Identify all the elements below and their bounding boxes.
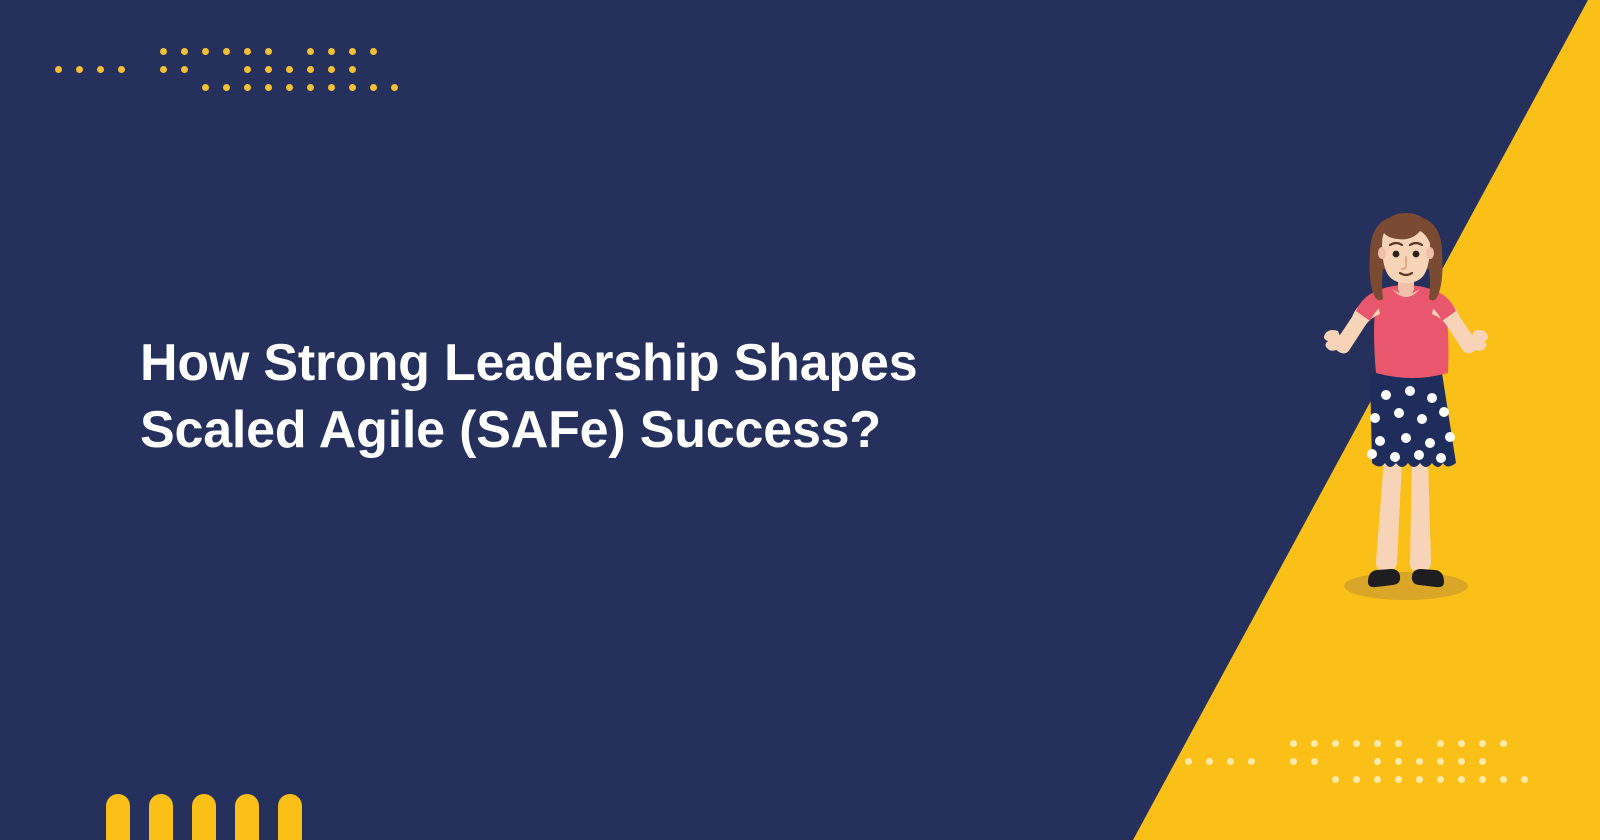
shoe-left (1368, 569, 1400, 587)
decorative-dot (1458, 776, 1465, 783)
decorative-dot (1416, 776, 1423, 783)
decorative-dot (265, 48, 272, 55)
decorative-accent-bars (106, 794, 302, 840)
decorative-dot (1332, 740, 1339, 747)
accent-bar (106, 794, 130, 840)
decorative-dot (1290, 740, 1297, 747)
decorative-dot (1374, 740, 1381, 747)
decorative-dot (1437, 758, 1444, 765)
decorative-dot (1458, 740, 1465, 747)
decorative-dot (286, 84, 293, 91)
decorative-dot (1290, 758, 1297, 765)
decorative-dot (244, 48, 251, 55)
decorative-dot (1395, 776, 1402, 783)
decorative-dot (1185, 758, 1192, 765)
decorative-dot (391, 84, 398, 91)
standing-woman-illustration (1306, 205, 1506, 615)
decorative-dot (1395, 740, 1402, 747)
decorative-dot (370, 84, 377, 91)
decorative-dot (1374, 776, 1381, 783)
decorative-dot (328, 48, 335, 55)
decorative-dot (1521, 776, 1528, 783)
decorative-dot (1479, 776, 1486, 783)
decorative-dot (328, 66, 335, 73)
decorative-dot (1206, 758, 1213, 765)
decorative-dot (160, 48, 167, 55)
accent-bar (278, 794, 302, 840)
decorative-dot (1458, 758, 1465, 765)
decorative-dot (349, 48, 356, 55)
decorative-dot (1437, 776, 1444, 783)
decorative-dot (160, 66, 167, 73)
banner-canvas: How Strong Leadership Shapes Scaled Agil… (0, 0, 1600, 840)
shoe-right (1412, 569, 1444, 587)
decorative-dot (265, 84, 272, 91)
decorative-dot (370, 48, 377, 55)
eye-left (1393, 251, 1400, 258)
decorative-dot (1416, 758, 1423, 765)
decorative-dot (307, 84, 314, 91)
decorative-dot (1500, 776, 1507, 783)
accent-bar (235, 794, 259, 840)
decorative-dot (181, 66, 188, 73)
accent-bar (149, 794, 173, 840)
decorative-dot (286, 66, 293, 73)
decorative-dot (76, 66, 83, 73)
decorative-dot (181, 48, 188, 55)
decorative-dot (328, 84, 335, 91)
decorative-dot (1332, 776, 1339, 783)
decorative-dot (1353, 776, 1360, 783)
decorative-dot (223, 48, 230, 55)
ear-right (1426, 247, 1434, 259)
leg-right (1410, 460, 1431, 572)
decorative-dot (1311, 740, 1318, 747)
decorative-dot (1437, 740, 1444, 747)
ground-shadow (1344, 572, 1468, 600)
decorative-dot (1500, 740, 1507, 747)
decorative-dot (202, 84, 209, 91)
decorative-dot (1395, 758, 1402, 765)
decorative-dot (1374, 758, 1381, 765)
eye-right (1413, 251, 1420, 258)
decorative-dot (265, 66, 272, 73)
decorative-dot (1479, 740, 1486, 747)
decorative-dot (307, 66, 314, 73)
decorative-dot (1227, 758, 1234, 765)
decorative-dot (349, 84, 356, 91)
decorative-dot (349, 66, 356, 73)
decorative-dot (118, 66, 125, 73)
decorative-dot (202, 48, 209, 55)
decorative-dot (1248, 758, 1255, 765)
decorative-dot-pattern-top-left (55, 36, 405, 100)
decorative-dot (244, 66, 251, 73)
decorative-dot (1311, 758, 1318, 765)
accent-bar (192, 794, 216, 840)
decorative-dot-pattern-bottom-right (1185, 728, 1535, 792)
decorative-dot (55, 66, 62, 73)
ear-left (1378, 247, 1386, 259)
decorative-dot (223, 84, 230, 91)
decorative-dot (1353, 740, 1360, 747)
leg-left (1376, 460, 1402, 572)
page-title: How Strong Leadership Shapes Scaled Agil… (140, 330, 1100, 463)
decorative-dot (97, 66, 104, 73)
decorative-dot (307, 48, 314, 55)
decorative-dot (1479, 758, 1486, 765)
decorative-dot (244, 84, 251, 91)
